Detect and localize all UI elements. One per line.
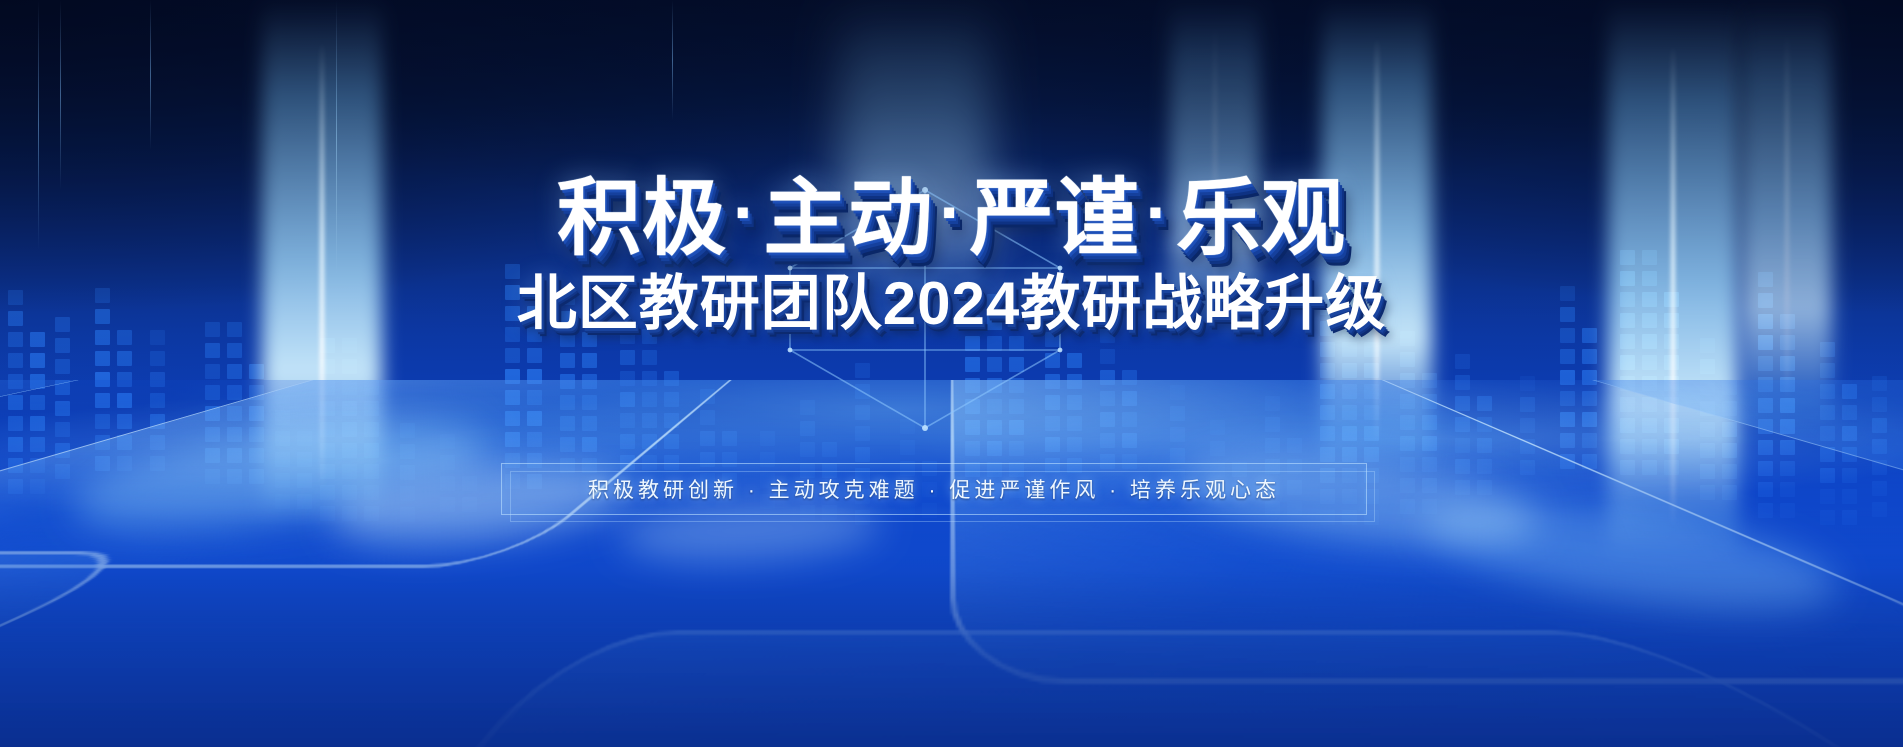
main-title-segment-3: 严谨	[968, 176, 1142, 260]
main-title: 积极 · 主动 · 严谨 · 乐观	[555, 176, 1348, 260]
title-separator-dot: ·	[1146, 177, 1170, 247]
banner-content: 积极 · 主动 · 严谨 · 乐观 北区教研团队2024教研战略升级	[0, 0, 1903, 747]
main-title-segment-4: 乐观	[1174, 176, 1348, 260]
main-title-segment-2: 主动	[761, 176, 935, 260]
promo-banner: 积极 · 主动 · 严谨 · 乐观 北区教研团队2024教研战略升级 积极教研创…	[0, 0, 1903, 747]
tagline-text: 积极教研创新 · 主动攻克难题 · 促进严谨作风 · 培养乐观心态	[501, 463, 1367, 515]
main-title-segment-1: 积极	[555, 176, 729, 260]
title-separator-dot: ·	[733, 177, 757, 247]
title-separator-dot: ·	[939, 177, 963, 247]
sub-title: 北区教研团队2024教研战略升级	[517, 274, 1386, 334]
